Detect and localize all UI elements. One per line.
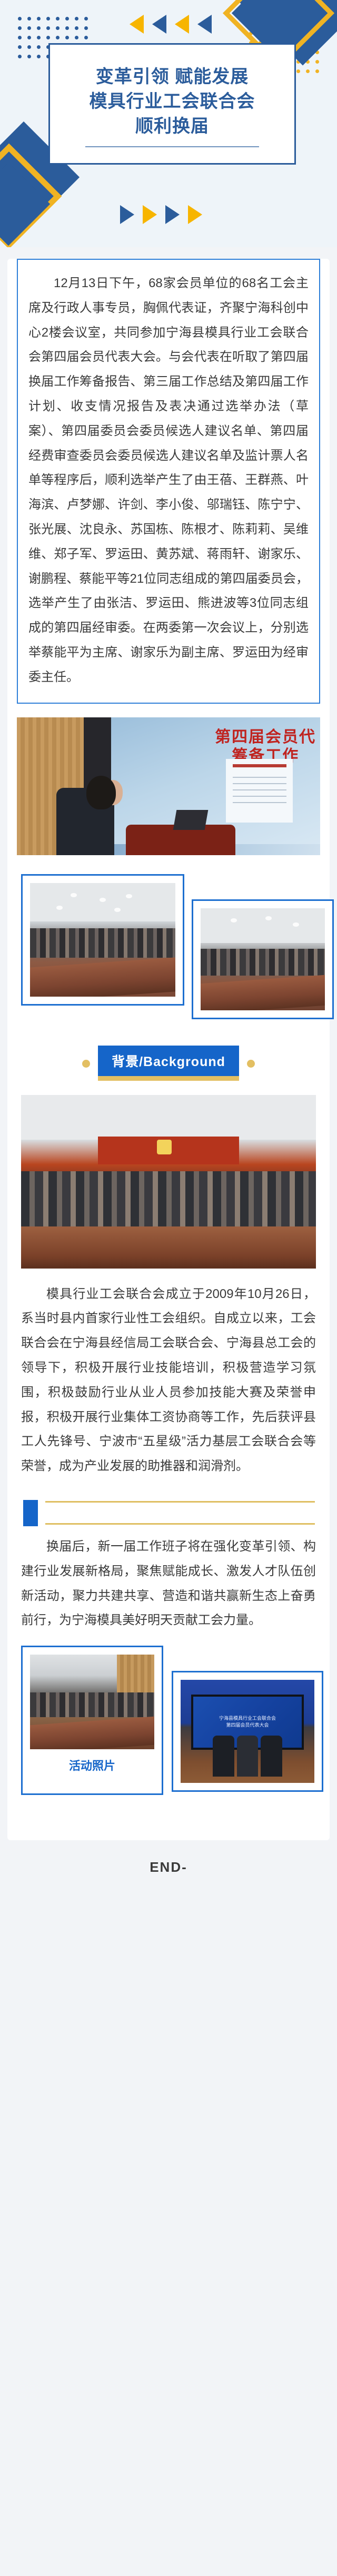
photo-frame-group: 宁海县模具行业工会联合会 第四届会员代表大会 <box>172 1671 323 1792</box>
page-title: 变革引领 赋能发展 模具行业工会联合会 顺利换届 <box>64 65 281 139</box>
triangle-row-left-icon <box>130 15 212 34</box>
photo-frame-audience-1 <box>21 874 184 1006</box>
photo-conference-hall <box>21 1095 316 1269</box>
section-header-background: 背景/Background <box>7 1046 330 1079</box>
content-card: 12月13日下午，68家会员单位的68名工会主席及行政人事专员，胸佩代表证，齐聚… <box>7 259 330 1840</box>
group-screen-line-2: 第四届会员代表大会 <box>226 1722 269 1728</box>
title-line-1: 变革引领 赋能发展 <box>96 67 249 87</box>
title-line-2: 模具行业工会联合会 <box>90 92 255 111</box>
article-page: 变革引领 赋能发展 模具行业工会联合会 顺利换届 12月13日下午，68家会员单… <box>0 0 337 2576</box>
end-mark: END- <box>0 1840 337 1907</box>
hero-header: 变革引领 赋能发展 模具行业工会联合会 顺利换届 <box>0 0 337 247</box>
divider-line-top <box>45 1501 315 1503</box>
section-badge-label: 背景/Background <box>98 1046 239 1076</box>
photo-caption: 活动照片 <box>30 1757 154 1773</box>
gold-divider <box>19 1497 318 1529</box>
divider-line-bottom <box>45 1523 315 1525</box>
paragraph-1: 12月13日下午，68家会员单位的68名工会主席及行政人事专员，胸佩代表证，齐聚… <box>28 271 309 690</box>
article-content: 12月13日下午，68家会员单位的68名工会主席及行政人事专员，胸佩代表证，齐聚… <box>0 259 337 1923</box>
photo-speaker-at-podium: 第四届会员代 筹备工作 <box>17 717 320 855</box>
paragraph-1-box: 12月13日下午，68家会员单位的68名工会主席及行政人事专员，胸佩代表证，齐聚… <box>17 259 320 704</box>
paragraph-3-wrap: 换届后，新一届工作班子将在强化变革引领、构建行业发展新格局，聚焦赋能成长、激发人… <box>21 1535 316 1633</box>
paragraph-3: 换届后，新一届工作班子将在强化变革引领、构建行业发展新格局，聚焦赋能成长、激发人… <box>21 1535 316 1633</box>
triangle-row-right-icon <box>120 205 202 224</box>
divider-blue-block-icon <box>23 1500 38 1526</box>
photo-gallery-meeting <box>7 869 330 1027</box>
paragraph-2-wrap: 模具行业工会联合会成立于2009年10月26日，系当时县内首家行业性工会组织。自… <box>21 1282 316 1479</box>
title-card: 变革引领 赋能发展 模具行业工会联合会 顺利换届 <box>48 43 296 165</box>
photo-frame-voting: 活动照片 <box>21 1646 163 1795</box>
paragraph-2: 模具行业工会联合会成立于2009年10月26日，系当时县内首家行业性工会组织。自… <box>21 1282 316 1479</box>
title-line-3: 顺利换届 <box>135 116 209 136</box>
title-underline <box>85 146 259 147</box>
photo-gallery-activity: 活动照片 宁海县模具行业工会联合会 第四届会员代表大会 <box>7 1646 330 1803</box>
photo-frame-audience-2 <box>192 899 334 1019</box>
badge-dot-right-icon <box>247 1060 255 1068</box>
badge-dot-left-icon <box>82 1060 90 1068</box>
group-screen-line-1: 宁海县模具行业工会联合会 <box>219 1716 276 1721</box>
